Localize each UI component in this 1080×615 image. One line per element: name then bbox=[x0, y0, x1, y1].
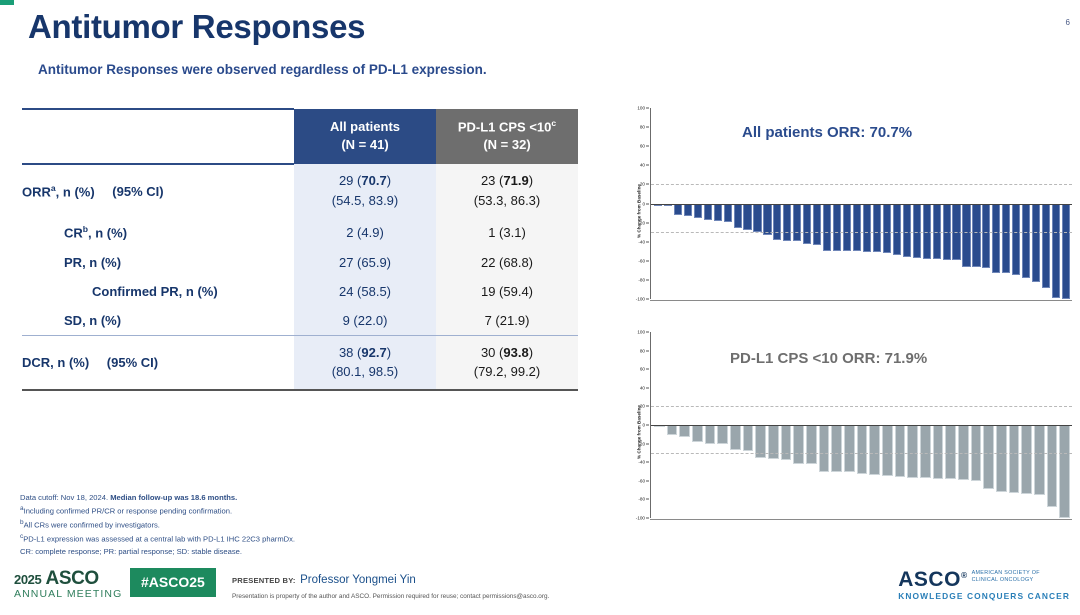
cell-dcr-cps-pct: 93.8 bbox=[503, 345, 528, 360]
table-header-all-patients: All patients (N = 41) bbox=[294, 109, 436, 164]
waterfall-bar bbox=[1002, 204, 1010, 274]
waterfall-bar bbox=[692, 425, 702, 442]
col2-sublabel: (N = 32) bbox=[483, 137, 530, 152]
cell-dcr-all-patients: 38 (92.7) (80.1, 98.5) bbox=[294, 335, 436, 390]
cell-pr-all-patients: 27 (65.9) bbox=[294, 248, 436, 277]
waterfall-bar bbox=[667, 425, 677, 435]
waterfall-bar bbox=[883, 204, 891, 254]
waterfall-bar bbox=[674, 204, 682, 215]
meeting-brand: ASCO bbox=[46, 568, 99, 589]
waterfall-bar bbox=[734, 204, 742, 229]
waterfall-bar bbox=[1012, 204, 1020, 276]
y-tick-label: -80 bbox=[638, 497, 645, 502]
waterfall-bar bbox=[857, 425, 867, 474]
row-label-orr-ci: (95% CI) bbox=[98, 182, 163, 202]
waterfall-bar bbox=[753, 204, 761, 233]
y-tick-mark bbox=[646, 108, 649, 109]
y-tick-mark bbox=[646, 332, 649, 333]
y-tick-label: 100 bbox=[637, 330, 645, 335]
table-body: ORRa, n (%) (95% CI) 29 (70.7) (54.5, 83… bbox=[22, 164, 578, 389]
cell-dcr-all-pct: 92.7 bbox=[361, 345, 386, 360]
row-label-cr: CRb, n (%) bbox=[22, 217, 294, 247]
table-row-pr: PR, n (%) 27 (65.9) 22 (68.8) bbox=[22, 248, 578, 277]
top-accent-bar bbox=[0, 0, 14, 5]
footnote-cutoff-bold: Median follow-up was 18.6 months. bbox=[110, 493, 237, 502]
waterfall-bar bbox=[694, 204, 702, 218]
y-tick-label: 20 bbox=[640, 182, 645, 187]
y-tick-label: 80 bbox=[640, 125, 645, 130]
waterfall-bar bbox=[962, 204, 970, 267]
cell-sd-all-patients: 9 (22.0) bbox=[294, 306, 436, 336]
waterfall-bar bbox=[714, 204, 722, 221]
cell-cr-cps: 1 (3.1) bbox=[436, 217, 578, 247]
waterfall-bar bbox=[903, 204, 911, 257]
waterfall-bar bbox=[724, 204, 732, 222]
row-label-cr-suffix: , n (%) bbox=[88, 226, 127, 241]
waterfall-bar bbox=[1021, 425, 1031, 494]
y-tick-label: -100 bbox=[636, 516, 645, 521]
cell-pr-cps: 22 (68.8) bbox=[436, 248, 578, 277]
waterfall-bar bbox=[743, 425, 753, 451]
y-tick-label: -40 bbox=[638, 460, 645, 465]
page-title: Antitumor Responses bbox=[28, 8, 365, 46]
table-row-sd: SD, n (%) 9 (22.0) 7 (21.9) bbox=[22, 306, 578, 336]
waterfall-bar bbox=[863, 204, 871, 253]
col2-label: PD-L1 CPS <10 bbox=[458, 119, 552, 134]
chart-top-yaxis: 100806040200-20-40-60-80-100 bbox=[622, 108, 648, 313]
y-tick-label: 80 bbox=[640, 348, 645, 353]
table-header-pdl1-cps: PD-L1 CPS <10c (N = 32) bbox=[436, 109, 578, 164]
y-tick-mark bbox=[646, 350, 649, 351]
y-tick-label: -20 bbox=[638, 441, 645, 446]
cell-cr-all-patients: 2 (4.9) bbox=[294, 217, 436, 247]
y-tick-mark bbox=[646, 369, 649, 370]
asco-tagline: KNOWLEDGE CONQUERS CANCER bbox=[898, 591, 1070, 601]
waterfall-bar bbox=[1052, 204, 1060, 299]
y-tick-label: -60 bbox=[638, 478, 645, 483]
waterfall-bar bbox=[1042, 204, 1050, 288]
y-tick-label: 40 bbox=[640, 163, 645, 168]
waterfall-bar bbox=[982, 204, 990, 269]
waterfall-bar bbox=[907, 425, 917, 478]
table-row-orr: ORRa, n (%) (95% CI) 29 (70.7) (54.5, 83… bbox=[22, 164, 578, 217]
row-label-orr-suffix: , n (%) bbox=[56, 184, 95, 199]
waterfall-bar bbox=[893, 204, 901, 256]
waterfall-bar bbox=[996, 425, 1006, 492]
waterfall-bar bbox=[1032, 204, 1040, 282]
chart-bot-xaxis bbox=[650, 519, 1072, 520]
footnote-a-text: Including confirmed PR/CR or response pe… bbox=[24, 507, 233, 516]
waterfall-bar bbox=[983, 425, 993, 489]
waterfall-bar bbox=[844, 425, 854, 472]
asco-society-line2: CLINICAL ONCOLOGY bbox=[972, 577, 1034, 583]
waterfall-bar bbox=[717, 425, 727, 444]
waterfall-bar bbox=[823, 204, 831, 252]
row-label-dcr-ci: (95% CI) bbox=[93, 353, 158, 373]
asco-society-logo: ASCO®AMERICAN SOCIETY OFCLINICAL ONCOLOG… bbox=[898, 568, 1070, 601]
waterfall-bar bbox=[843, 204, 851, 252]
y-tick-mark bbox=[646, 462, 649, 463]
y-tick-mark bbox=[646, 165, 649, 166]
cell-confirmed-pr-all-patients: 24 (58.5) bbox=[294, 277, 436, 306]
y-tick-mark bbox=[646, 480, 649, 481]
waterfall-bar bbox=[763, 204, 771, 236]
waterfall-bar bbox=[1062, 204, 1070, 300]
presented-by-label: PRESENTED BY: bbox=[232, 576, 296, 585]
table-row-cr: CRb, n (%) 2 (4.9) 1 (3.1) bbox=[22, 217, 578, 247]
row-label-cr-text: CR bbox=[64, 226, 83, 241]
table-row-confirmed-pr: Confirmed PR, n (%) 24 (58.5) 19 (59.4) bbox=[22, 277, 578, 306]
asco-annual-meeting-logo: 2025 ASCO ANNUAL MEETING bbox=[14, 568, 122, 600]
y-tick-label: 60 bbox=[640, 144, 645, 149]
slide-footer: 2025 ASCO ANNUAL MEETING #ASCO25 PRESENT… bbox=[0, 562, 1080, 615]
reference-line-20 bbox=[651, 184, 1072, 185]
row-label-confirmed-pr: Confirmed PR, n (%) bbox=[22, 277, 294, 306]
waterfall-bar bbox=[684, 204, 692, 216]
footnote-abbreviations: CR: complete response; PR: partial respo… bbox=[20, 546, 540, 558]
cell-dcr-all-n: 38 bbox=[339, 345, 353, 360]
waterfall-bar bbox=[873, 204, 881, 253]
waterfall-bar bbox=[803, 204, 811, 244]
presenter-name: Professor Yongmei Yin bbox=[300, 574, 416, 586]
chart-top-xaxis bbox=[650, 300, 1072, 301]
table-header-blank bbox=[22, 109, 294, 164]
waterfall-bar bbox=[813, 204, 821, 245]
footnote-c-text: PD-L1 expression was assessed at a centr… bbox=[23, 534, 295, 543]
footnotes-block: Data cutoff: Nov 18, 2024. Median follow… bbox=[20, 492, 540, 558]
waterfall-bar bbox=[895, 425, 905, 477]
waterfall-bar bbox=[781, 425, 791, 460]
y-tick-label: -100 bbox=[636, 297, 645, 302]
waterfall-bar bbox=[920, 425, 930, 478]
waterfall-bar bbox=[869, 425, 879, 475]
row-label-pr: PR, n (%) bbox=[22, 248, 294, 277]
y-tick-mark bbox=[646, 184, 649, 185]
y-tick-mark bbox=[646, 406, 649, 407]
waterfall-bar bbox=[783, 204, 791, 241]
chart-all-patients-waterfall: % Change from Baseline 100806040200-20-4… bbox=[612, 108, 1074, 313]
waterfall-bar bbox=[882, 425, 892, 476]
y-tick-label: -60 bbox=[638, 258, 645, 263]
waterfall-bar bbox=[1009, 425, 1019, 493]
row-label-sd-text: SD bbox=[64, 313, 82, 328]
waterfall-bar bbox=[1034, 425, 1044, 495]
waterfall-bar bbox=[768, 425, 778, 459]
y-tick-mark bbox=[646, 203, 649, 204]
waterfall-bar bbox=[743, 204, 751, 231]
table-header-row: All patients (N = 41) PD-L1 CPS <10c (N … bbox=[22, 109, 578, 164]
row-label-pr-suffix: , n (%) bbox=[82, 255, 121, 270]
waterfall-bar bbox=[1047, 425, 1057, 507]
waterfall-bar bbox=[972, 204, 980, 268]
y-tick-label: 0 bbox=[642, 423, 645, 428]
waterfall-bar bbox=[853, 204, 861, 252]
waterfall-bar bbox=[773, 204, 781, 240]
row-label-sd-suffix: , n (%) bbox=[82, 313, 121, 328]
zero-reference-line bbox=[651, 204, 1072, 205]
col1-label: All patients bbox=[330, 119, 400, 134]
presented-by-block: PRESENTED BY: Professor Yongmei Yin Pres… bbox=[232, 570, 549, 600]
y-tick-mark bbox=[646, 425, 649, 426]
cell-orr-all-patients: 29 (70.7) (54.5, 83.9) bbox=[294, 164, 436, 217]
waterfall-bar bbox=[819, 425, 829, 472]
col2-superscript: c bbox=[551, 118, 556, 128]
reference-line--30 bbox=[651, 453, 1072, 454]
waterfall-bar bbox=[806, 425, 816, 464]
col1-sublabel: (N = 41) bbox=[341, 137, 388, 152]
footnote-data-cutoff: Data cutoff: Nov 18, 2024. Median follow… bbox=[20, 492, 540, 504]
meeting-subtitle: ANNUAL MEETING bbox=[14, 588, 122, 600]
cell-confirmed-pr-cps: 19 (59.4) bbox=[436, 277, 578, 306]
cell-dcr-all-ci: (80.1, 98.5) bbox=[298, 362, 432, 382]
y-tick-mark bbox=[646, 146, 649, 147]
waterfall-bar bbox=[793, 425, 803, 464]
chart-bot-annotation: PD-L1 CPS <10 ORR: 71.9% bbox=[730, 350, 927, 367]
cell-orr-cps: 23 (71.9) (53.3, 86.3) bbox=[436, 164, 578, 217]
y-tick-mark bbox=[646, 222, 649, 223]
row-label-confirmed-pr-suffix: , n (%) bbox=[179, 284, 218, 299]
waterfall-bar bbox=[679, 425, 689, 437]
waterfall-bar bbox=[705, 425, 715, 444]
hashtag-badge: #ASCO25 bbox=[130, 568, 216, 597]
y-tick-label: 20 bbox=[640, 404, 645, 409]
y-tick-mark bbox=[646, 127, 649, 128]
chart-pdl1-cps-waterfall: % Change from Baseline 100806040200-20-4… bbox=[612, 332, 1074, 532]
chart-top-annotation: All patients ORR: 70.7% bbox=[742, 124, 912, 141]
y-tick-mark bbox=[646, 299, 649, 300]
cell-dcr-cps-ci: (79.2, 99.2) bbox=[440, 362, 574, 382]
row-label-dcr-suffix: , n (%) bbox=[50, 355, 89, 370]
row-label-dcr-text: DCR bbox=[22, 355, 50, 370]
y-tick-label: 100 bbox=[637, 106, 645, 111]
cell-dcr-cps-n: 30 bbox=[481, 345, 495, 360]
reference-line--30 bbox=[651, 232, 1072, 233]
zero-reference-line bbox=[651, 425, 1072, 426]
y-tick-label: 60 bbox=[640, 367, 645, 372]
waterfall-bar bbox=[913, 204, 921, 258]
cell-sd-cps: 7 (21.9) bbox=[436, 306, 578, 336]
cell-orr-cps-ci: (53.3, 86.3) bbox=[440, 191, 574, 211]
asco-society-lines: AMERICAN SOCIETY OFCLINICAL ONCOLOGY bbox=[972, 570, 1040, 584]
waterfall-bar bbox=[1022, 204, 1030, 278]
cell-orr-cps-n: 23 bbox=[481, 173, 495, 188]
asco-wordmark: ASCO® bbox=[898, 568, 967, 591]
waterfall-bar bbox=[1059, 425, 1069, 518]
page-number: 6 bbox=[1066, 18, 1070, 27]
row-label-sd: SD, n (%) bbox=[22, 306, 294, 336]
asco-society-line1: AMERICAN SOCIETY OF bbox=[972, 570, 1040, 576]
row-label-pr-text: PR bbox=[64, 255, 82, 270]
row-label-dcr: DCR, n (%) (95% CI) bbox=[22, 335, 294, 390]
y-tick-mark bbox=[646, 387, 649, 388]
waterfall-bar bbox=[704, 204, 712, 220]
meeting-year: 2025 bbox=[14, 572, 41, 587]
y-tick-mark bbox=[646, 260, 649, 261]
row-label-orr: ORRa, n (%) (95% CI) bbox=[22, 164, 294, 217]
y-tick-label: 40 bbox=[640, 385, 645, 390]
row-label-orr-text: ORR bbox=[22, 184, 51, 199]
y-tick-mark bbox=[646, 241, 649, 242]
y-tick-label: 0 bbox=[642, 201, 645, 206]
footnote-c: cPD-L1 expression was assessed at a cent… bbox=[20, 532, 540, 546]
registered-mark-icon: ® bbox=[961, 570, 968, 580]
footnote-b-text: All CRs were confirmed by investigators. bbox=[24, 521, 160, 530]
y-tick-mark bbox=[646, 443, 649, 444]
y-tick-label: -40 bbox=[638, 239, 645, 244]
y-tick-mark bbox=[646, 279, 649, 280]
y-tick-label: -20 bbox=[638, 220, 645, 225]
waterfall-bar bbox=[992, 204, 1000, 274]
footnote-b: bAll CRs were confirmed by investigators… bbox=[20, 518, 540, 532]
waterfall-bar bbox=[730, 425, 740, 450]
waterfall-bar bbox=[793, 204, 801, 241]
y-tick-label: -80 bbox=[638, 277, 645, 282]
row-label-confirmed-pr-text: Confirmed PR bbox=[92, 284, 179, 299]
waterfall-bar bbox=[833, 204, 841, 252]
cell-orr-all-ci: (54.5, 83.9) bbox=[298, 191, 432, 211]
slide-canvas: 6 Antitumor Responses Antitumor Response… bbox=[0, 0, 1080, 615]
legal-notice: Presentation is property of the author a… bbox=[232, 593, 549, 600]
cell-orr-cps-pct: 71.9 bbox=[503, 173, 528, 188]
y-tick-mark bbox=[646, 518, 649, 519]
response-table-container: All patients (N = 41) PD-L1 CPS <10c (N … bbox=[22, 108, 578, 391]
cell-dcr-cps: 30 (93.8) (79.2, 99.2) bbox=[436, 335, 578, 390]
waterfall-bar bbox=[831, 425, 841, 472]
cell-orr-all-n: 29 bbox=[339, 173, 353, 188]
reference-line-20 bbox=[651, 406, 1072, 407]
asco-wordmark-text: ASCO bbox=[898, 568, 961, 591]
footnote-cutoff-plain: Data cutoff: Nov 18, 2024. bbox=[20, 493, 110, 502]
footnote-a: aIncluding confirmed PR/CR or response p… bbox=[20, 504, 540, 518]
antitumor-response-table: All patients (N = 41) PD-L1 CPS <10c (N … bbox=[22, 108, 578, 391]
chart-bot-yaxis: 100806040200-20-40-60-80-100 bbox=[622, 332, 648, 532]
y-tick-mark bbox=[646, 499, 649, 500]
table-row-dcr: DCR, n (%) (95% CI) 38 (92.7) (80.1, 98.… bbox=[22, 335, 578, 390]
cell-orr-all-pct: 70.7 bbox=[361, 173, 386, 188]
page-subtitle: Antitumor Responses were observed regard… bbox=[38, 62, 487, 77]
